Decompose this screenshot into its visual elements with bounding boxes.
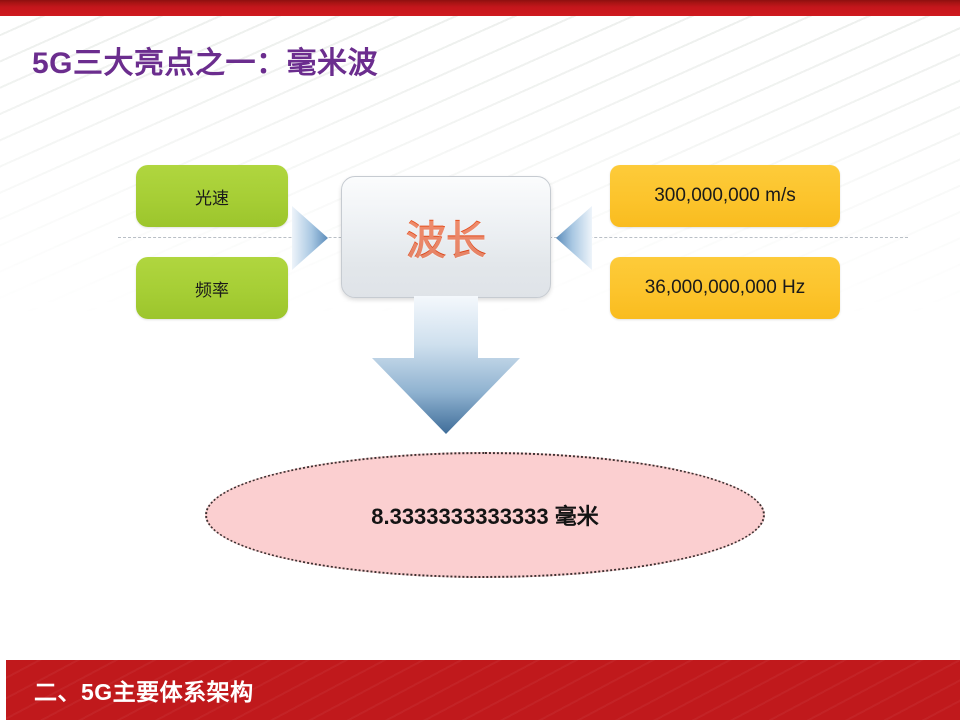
footer-section-label: 二、5G主要体系架构 [34,673,254,707]
value-box-speed-of-light: 300,000,000 m/s [610,165,840,227]
arrow-down-icon [372,296,520,434]
value-box-frequency-label: 36,000,000,000 Hz [645,277,806,299]
top-accent-bar [0,0,960,16]
input-box-speed-of-light-label: 光速 [195,184,229,209]
result-ellipse: 8.3333333333333 毫米 [205,452,765,578]
arrow-left-icon [556,203,592,273]
footer-left-notch [0,660,6,720]
value-box-speed-of-light-label: 300,000,000 m/s [654,185,796,207]
value-box-frequency: 36,000,000,000 Hz [610,257,840,319]
slide-canvas: 5G三大亮点之一：毫米波 光速 频率 波长 [0,0,960,720]
input-box-frequency-label: 频率 [195,276,229,301]
input-box-frequency: 频率 [136,257,288,319]
page-title: 5G三大亮点之一：毫米波 [32,38,378,82]
center-box-wavelength: 波长 [341,176,551,298]
center-box-wavelength-label: 波长 [406,208,486,266]
input-box-speed-of-light: 光速 [136,165,288,227]
result-ellipse-label: 8.3333333333333 毫米 [371,499,599,531]
arrow-right-icon [292,203,328,273]
footer-section-bar: 二、5G主要体系架构 [0,660,960,720]
